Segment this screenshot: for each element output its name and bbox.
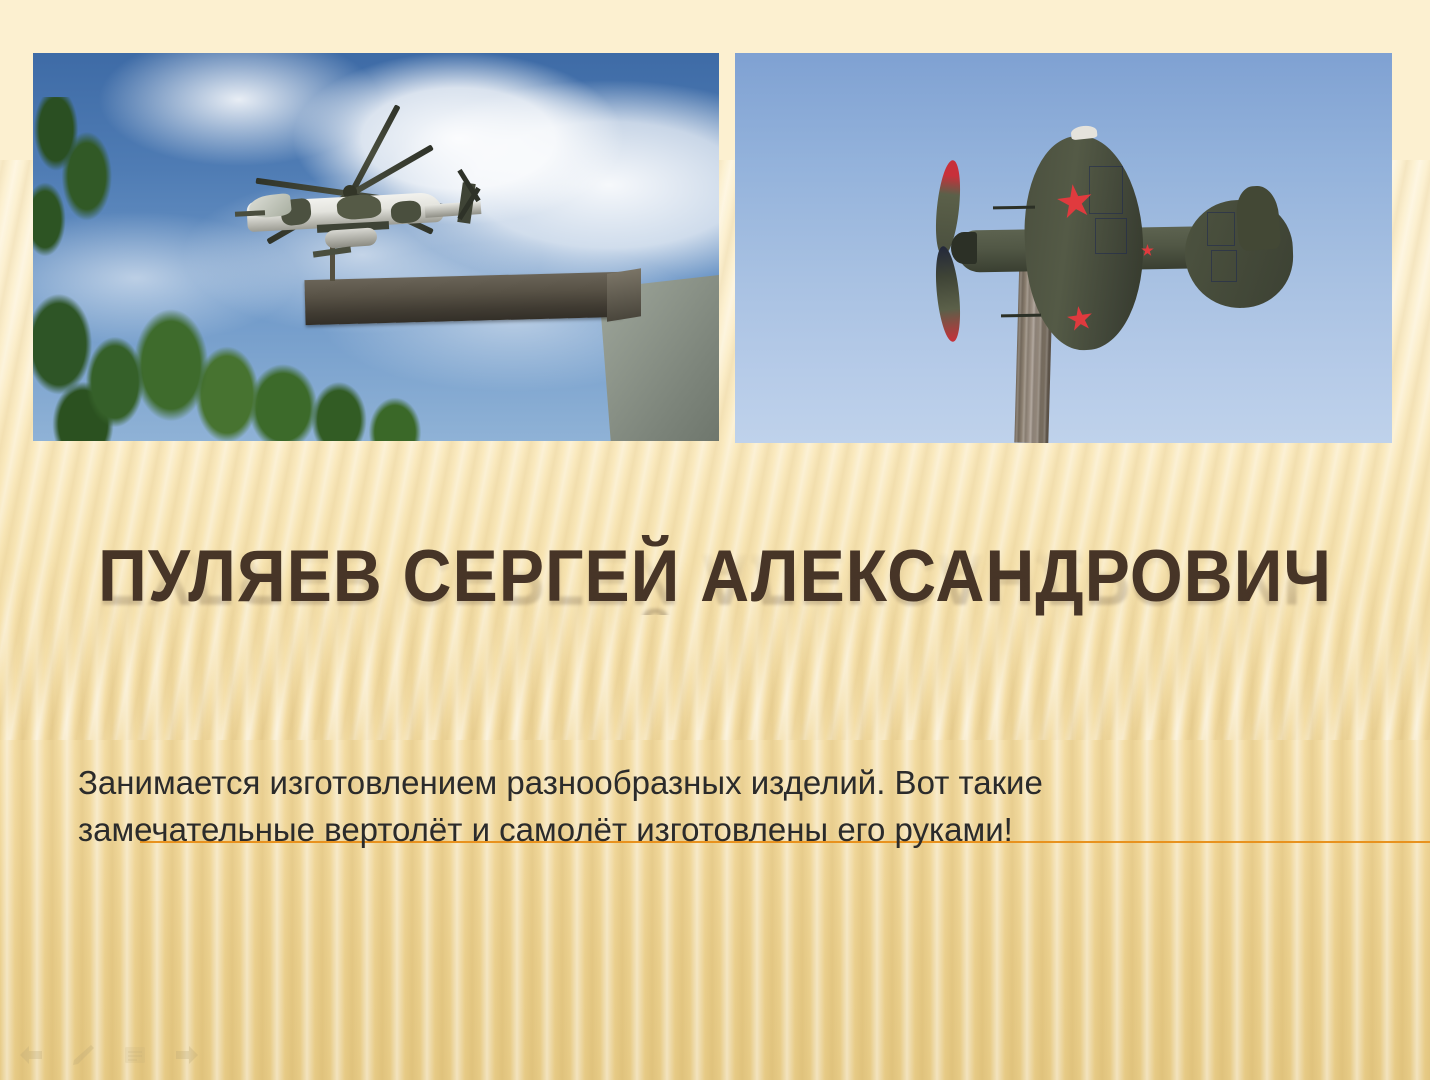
slideshow-nav-bar[interactable] bbox=[18, 1044, 200, 1066]
pen-icon[interactable] bbox=[70, 1044, 96, 1066]
body-line-2: замечательные вертолёт и самолёт изготов… bbox=[78, 807, 1388, 854]
wooden-beam bbox=[304, 272, 621, 325]
next-slide-arrow-icon[interactable] bbox=[174, 1044, 200, 1066]
menu-icon[interactable] bbox=[122, 1044, 148, 1066]
previous-slide-arrow-icon[interactable] bbox=[18, 1044, 44, 1066]
model-helicopter bbox=[225, 161, 485, 261]
presentation-slide: Пуляев Сергей Александрович Пуляев Серге… bbox=[0, 0, 1430, 1080]
tall-tree bbox=[33, 97, 133, 277]
weapon-pod bbox=[324, 227, 377, 249]
nose-cone bbox=[951, 232, 977, 264]
camouflage-patch bbox=[336, 193, 382, 221]
wing-strut bbox=[1001, 314, 1041, 318]
beam-end bbox=[607, 268, 641, 321]
vertical-stabilizer bbox=[1235, 185, 1281, 252]
helicopter-photo bbox=[33, 53, 719, 441]
wing-tip-cap bbox=[1070, 125, 1097, 141]
panel-line bbox=[1211, 250, 1237, 282]
camouflage-patch bbox=[390, 200, 421, 224]
body-line-1: Занимается изготовлением разнообразных и… bbox=[78, 764, 1043, 801]
drop-tank bbox=[313, 246, 351, 257]
panel-line bbox=[1089, 166, 1123, 214]
airplane-photo bbox=[735, 53, 1392, 443]
panel-line bbox=[1207, 212, 1235, 246]
model-airplane bbox=[885, 128, 1305, 358]
slide-body-text: Занимается изготовлением разнообразных и… bbox=[78, 760, 1388, 854]
panel-line bbox=[1095, 218, 1127, 254]
